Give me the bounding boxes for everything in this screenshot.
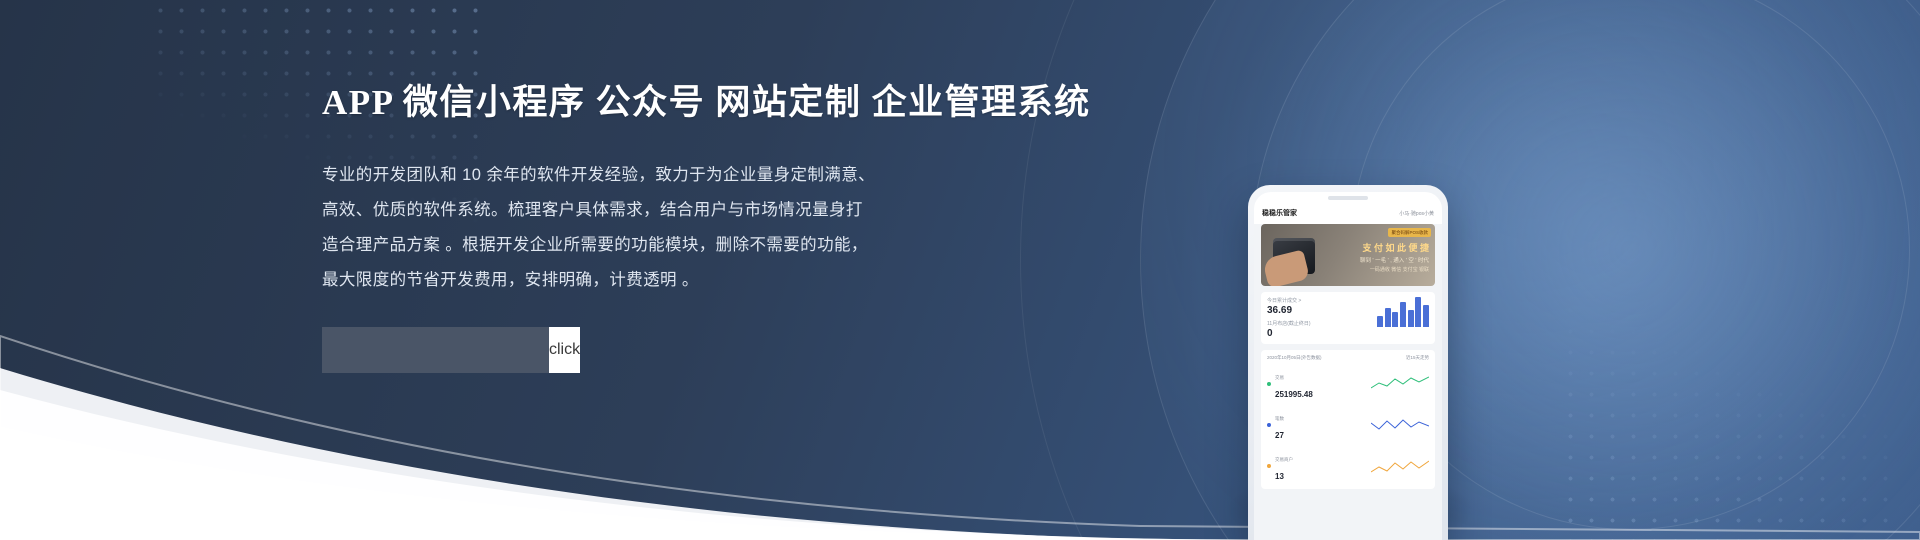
phone-mockup: 稳稳乐管家 小马·驰pos小黄 聚合码解POS收款 支 付 如 此 便 捷 聊到… [1248, 185, 1448, 540]
stats-rows: 交易251995.48笔数27交易商户13 [1267, 366, 1429, 484]
bar [1400, 302, 1406, 327]
hero-paragraph: 专业的开发团队和 10 余年的软件开发经验，致力于为企业量身定制满意、 高效、优… [322, 158, 1042, 298]
hero-copy: APP 微信小程序 公众号 网站定制 企业管理系统 专业的开发团队和 10 余年… [322, 74, 1042, 373]
stat-row: 笔数27 [1267, 407, 1429, 443]
month-label: 11月布店(截止终日) [1267, 320, 1377, 327]
stats-card[interactable]: 2020年10月05日(外告数据) 近15天走势 交易251995.48笔数27… [1261, 350, 1435, 489]
stat-name: 笔数 [1275, 416, 1284, 421]
paragraph-line: 高效、优质的软件系统。梳理客户具体需求，结合用户与市场情况量身打 [322, 193, 1042, 228]
bar [1385, 308, 1391, 327]
mini-bar-chart [1377, 297, 1429, 327]
bar [1415, 297, 1421, 327]
click-button[interactable]: click [549, 327, 580, 373]
page-title: APP 微信小程序 公众号 网站定制 企业管理系统 [322, 74, 1042, 125]
stat-name: 交易 [1275, 375, 1284, 380]
cta-group: click [322, 327, 565, 373]
phone-screen: 稳稳乐管家 小马·驰pos小黄 聚合码解POS收款 支 付 如 此 便 捷 聊到… [1254, 192, 1442, 540]
bar [1408, 310, 1414, 327]
stat-value: 27 [1275, 431, 1284, 440]
paragraph-line: 专业的开发团队和 10 余年的软件开发经验，致力于为企业量身定制满意、 [322, 158, 1042, 193]
stats-range: 近15天走势 [1406, 355, 1429, 361]
summary-card[interactable]: 今日累计成交 > 36.69 11月布店(截止终日) 0 [1261, 292, 1435, 344]
bar [1423, 305, 1429, 327]
month-value: 0 [1267, 328, 1377, 339]
sparkline [1371, 456, 1429, 476]
sparkline [1371, 374, 1429, 394]
stat-text: 笔数27 [1275, 407, 1371, 443]
today-label: 今日累计成交 > [1267, 297, 1377, 304]
legend-dot [1267, 464, 1271, 468]
legend-dot [1267, 382, 1271, 386]
sparkline [1371, 415, 1429, 435]
promo-line-2: 聊到 ' 一毛 ' , 通入 ' 空 ' 时代 [1360, 256, 1429, 264]
stat-value: 13 [1275, 472, 1284, 481]
stat-value: 251995.48 [1275, 390, 1313, 399]
promo-line-1: 支 付 如 此 便 捷 [1362, 241, 1429, 254]
hand-icon [1262, 249, 1310, 286]
cta-input[interactable] [322, 327, 549, 373]
phone-notch [1328, 196, 1368, 200]
stats-header: 2020年10月05日(外告数据) 近15天走势 [1267, 355, 1429, 361]
promo-tag: 聚合码解POS收款 [1388, 228, 1431, 237]
promo-banner[interactable]: 聚合码解POS收款 支 付 如 此 便 捷 聊到 ' 一毛 ' , 通入 ' 空… [1261, 224, 1435, 286]
summary-values: 今日累计成交 > 36.69 11月布店(截止终日) 0 [1267, 297, 1377, 339]
legend-dot [1267, 423, 1271, 427]
stat-name: 交易商户 [1275, 457, 1293, 462]
stat-text: 交易商户13 [1275, 448, 1371, 484]
promo-line-3: 一码通收 微信 支付宝 银联 [1370, 266, 1429, 273]
hero-banner: APP 微信小程序 公众号 网站定制 企业管理系统 专业的开发团队和 10 余年… [0, 0, 1920, 540]
stats-date: 2020年10月05日(外告数据) [1267, 355, 1322, 361]
phone-status-bar [1254, 192, 1442, 203]
today-value: 36.69 [1267, 305, 1377, 316]
app-title: 稳稳乐管家 [1262, 208, 1297, 218]
paragraph-line: 最大限度的节省开发费用，安排明确，计费透明 。 [322, 263, 1042, 298]
stat-row: 交易商户13 [1267, 448, 1429, 484]
paragraph-line: 造合理产品方案 。根据开发企业所需要的功能模块，删除不需要的功能， [322, 228, 1042, 263]
app-subtitle: 小马·驰pos小黄 [1399, 210, 1434, 217]
stat-text: 交易251995.48 [1275, 366, 1371, 402]
app-header: 稳稳乐管家 小马·驰pos小黄 [1254, 203, 1442, 224]
bar [1377, 316, 1383, 327]
stat-row: 交易251995.48 [1267, 366, 1429, 402]
bar [1392, 312, 1398, 327]
